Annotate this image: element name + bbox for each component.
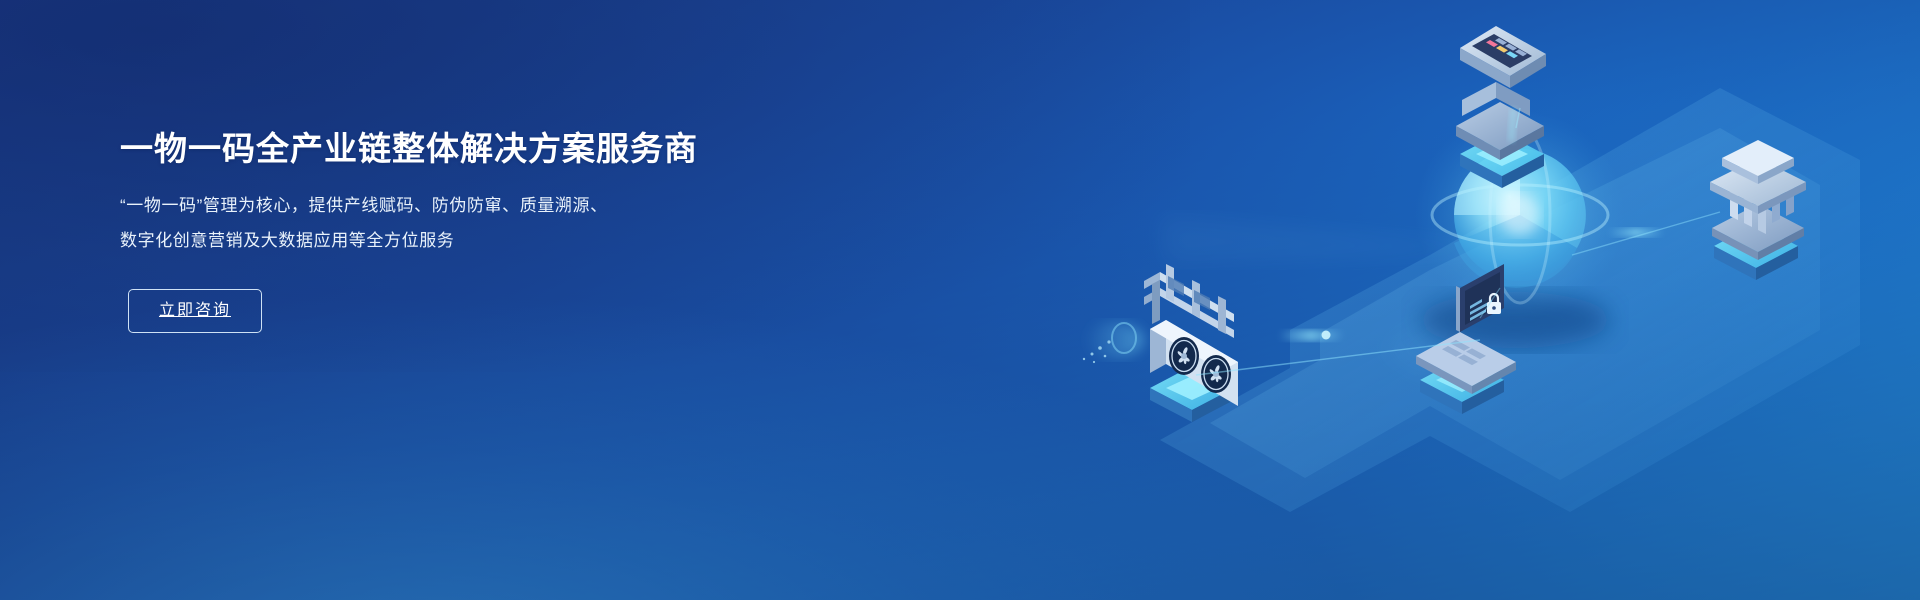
hero-subtitle-line-2: 数字化创意营销及大数据应用等全方位服务: [120, 224, 840, 259]
hero-subtitle-line-1: “一物一码”管理为核心，提供产线赋码、防伪防窜、质量溯源、: [120, 189, 840, 224]
hero-copy-block: 一物一码全产业链整体解决方案服务商 “一物一码”管理为核心，提供产线赋码、防伪防…: [120, 128, 840, 333]
page-title: 一物一码全产业链整体解决方案服务商: [120, 128, 840, 169]
bank-building-icon: [1710, 140, 1806, 280]
isometric-platform: [1160, 88, 1860, 512]
laptop-lock-icon: [1416, 264, 1516, 414]
hero-illustration: [960, 0, 1920, 600]
hero-subtitle: “一物一码”管理为核心，提供产线赋码、防伪防窜、质量溯源、 数字化创意营销及大数…: [120, 189, 840, 259]
connection-links: [1196, 108, 1720, 375]
airflow-glow: [1083, 322, 1144, 363]
hero-banner: 一物一码全产业链整体解决方案服务商 “一物一码”管理为核心，提供产线赋码、防伪防…: [0, 0, 1920, 600]
server-fan-rack-icon: [1083, 264, 1238, 422]
pedestal-pos: [1460, 132, 1544, 188]
pedestal-laptop: [1420, 358, 1504, 414]
pedestal-bank: [1714, 224, 1798, 280]
pos-terminal-icon: [1456, 26, 1546, 188]
glow-beams: [1160, 215, 1520, 380]
pedestal-server: [1150, 366, 1234, 422]
lock-icon: [1487, 294, 1501, 314]
consult-now-button[interactable]: 立即咨询: [128, 289, 262, 333]
data-sphere-icon: [1415, 110, 1625, 348]
